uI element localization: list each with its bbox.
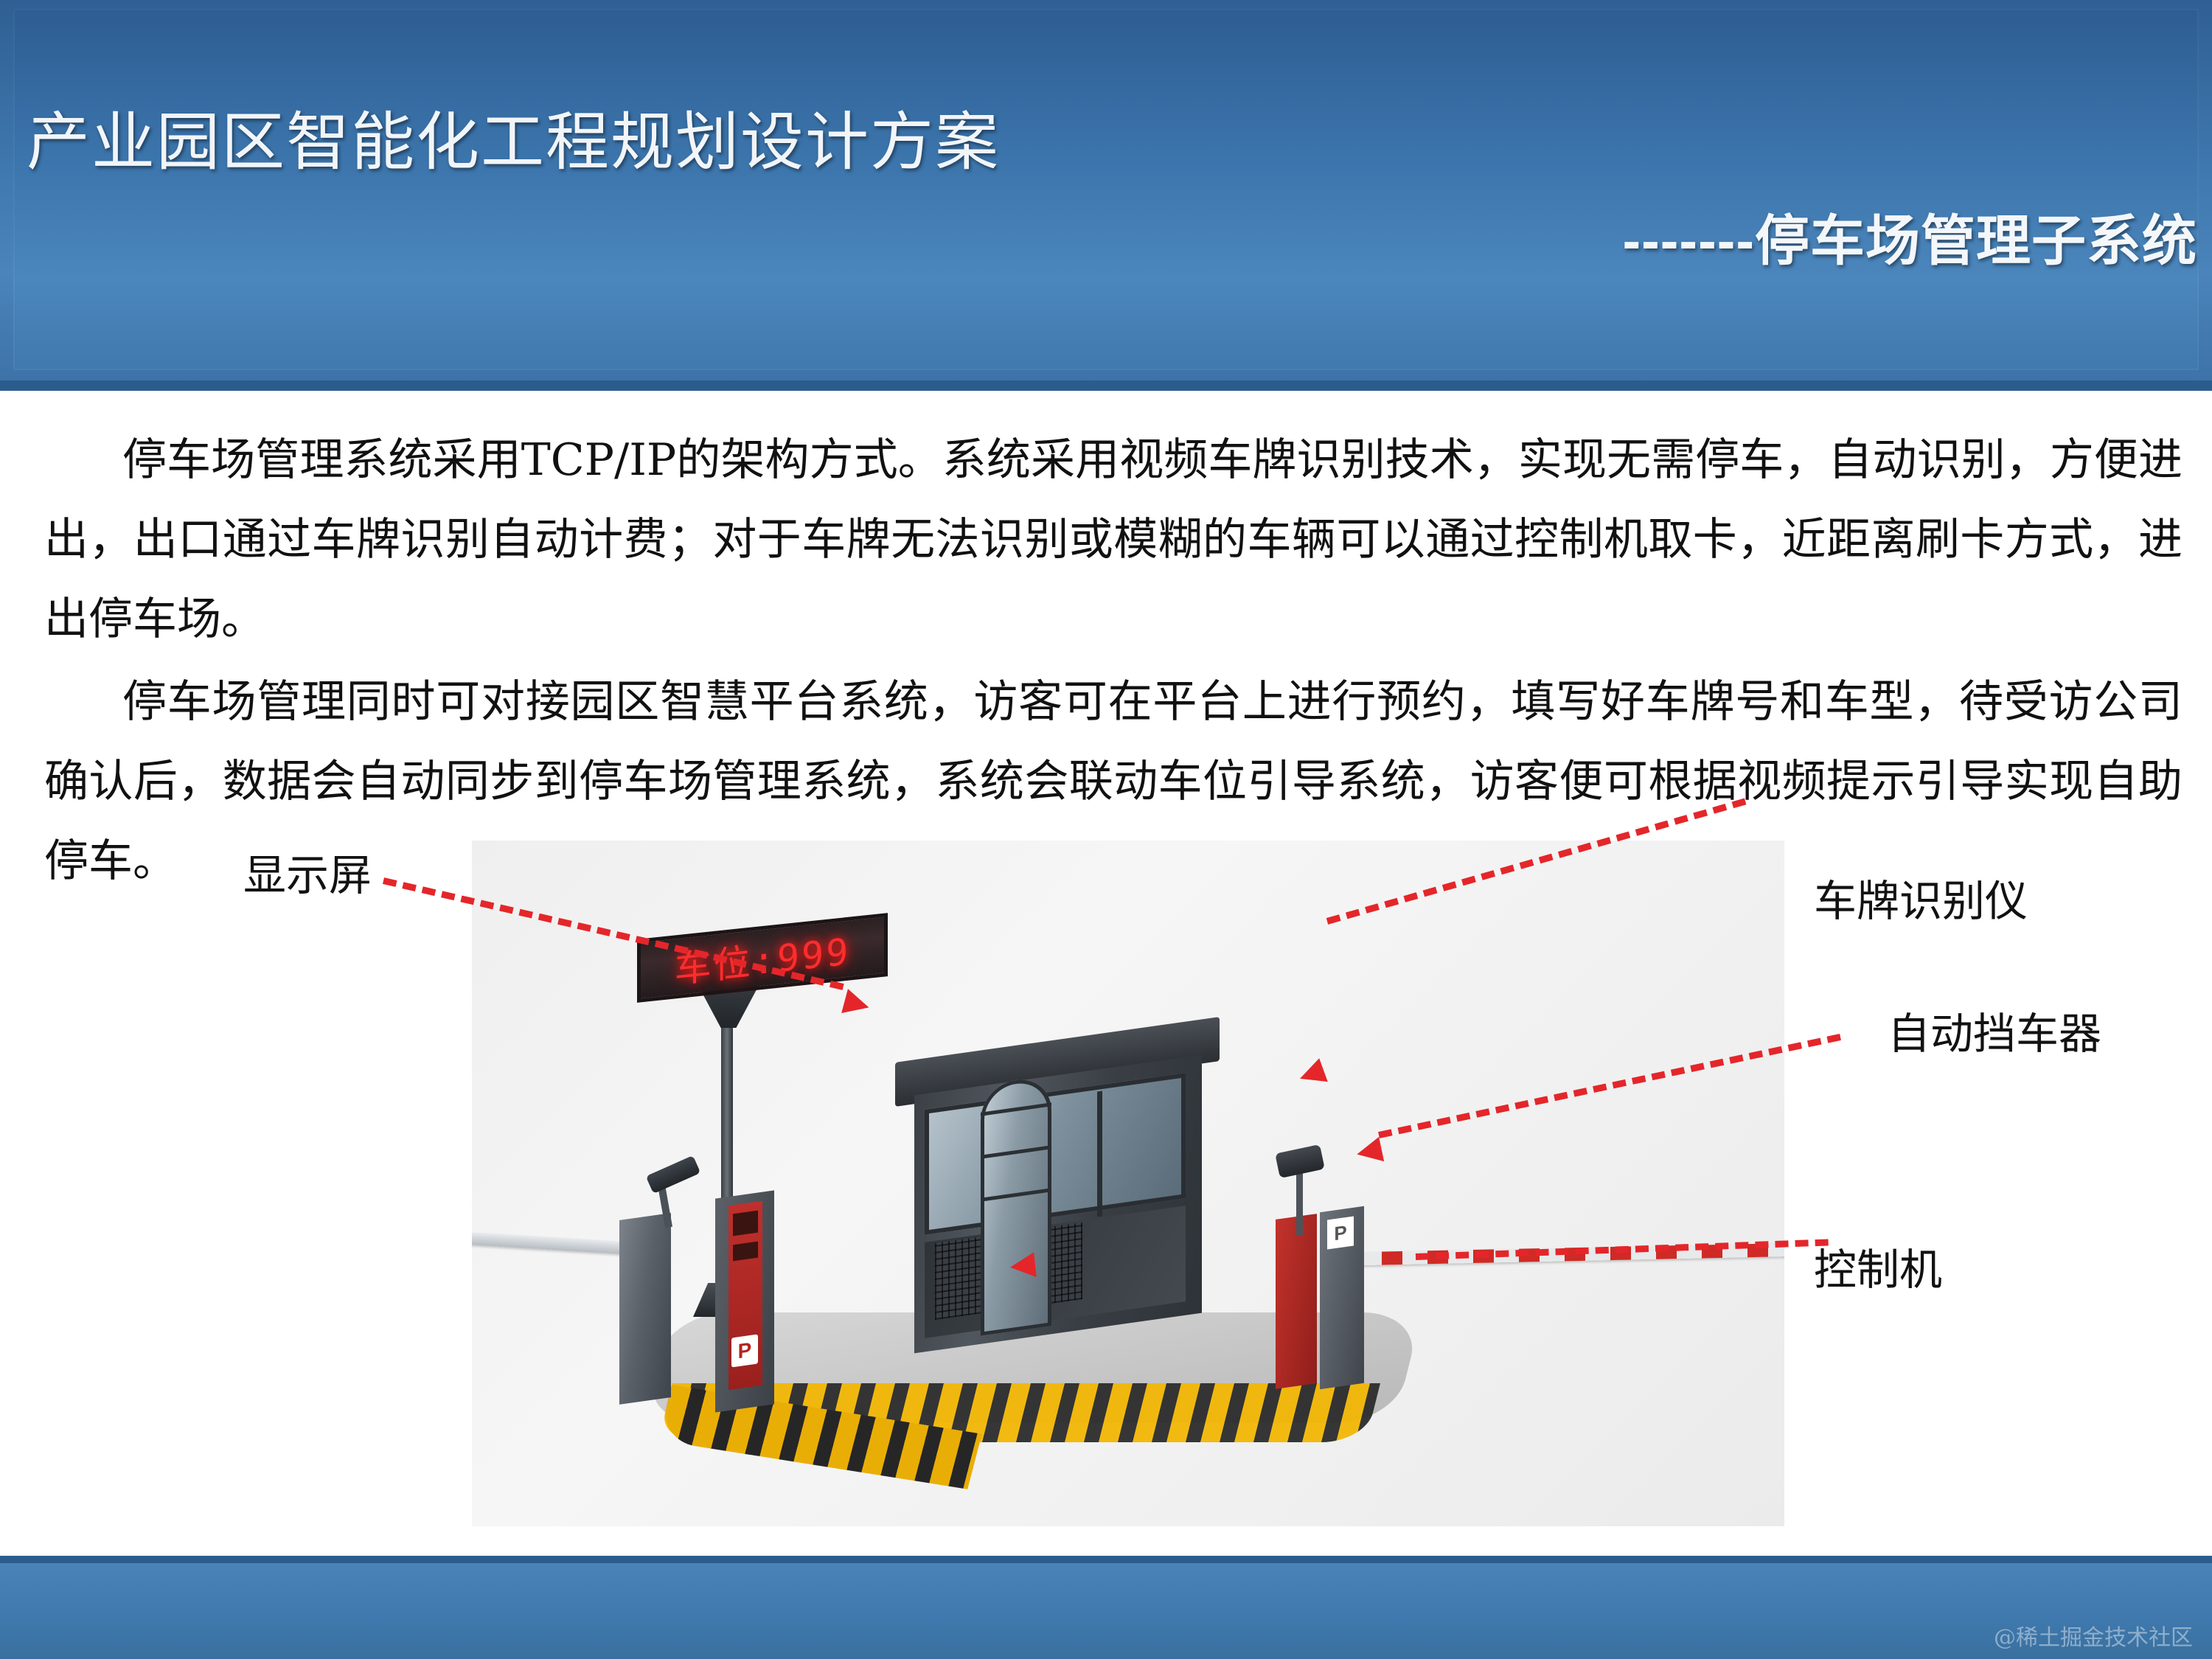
callout-label-gate: 自动挡车器 [1888, 999, 2101, 1061]
page-subtitle: -------停车场管理子系统 [1623, 214, 2198, 268]
slide-footer-band: @稀土掘金技术社区 [0, 1556, 2212, 1659]
left-barrier-housing [619, 1213, 671, 1405]
lpr-camera-pole [1296, 1169, 1303, 1235]
paragraph-1: 停车场管理系统采用TCP/IP的架构方式。系统采用视频车牌识别技术，实现无需停车… [44, 420, 2183, 659]
leader-arrow-controller [1009, 1252, 1036, 1279]
callout-label-display: 显示屏 [243, 841, 372, 902]
left-camera-icon [646, 1155, 701, 1194]
booth-window-mullion [1097, 1091, 1102, 1217]
left-barrier-arm [472, 1220, 641, 1255]
slide-body-text: 停车场管理系统采用TCP/IP的架构方式。系统采用视频车牌识别技术，实现无需停车… [44, 420, 2183, 904]
slide-header-inner [13, 9, 2199, 370]
page-title: 产业园区智能化工程规划设计方案 [27, 111, 1000, 174]
lpr-camera-icon [1275, 1144, 1325, 1178]
control-machine-p-badge: P [731, 1334, 758, 1367]
callout-label-lpr: 车牌识别仪 [1814, 866, 2028, 928]
leader-arrow-gate [1354, 1137, 1384, 1166]
lpr-post [1276, 1214, 1317, 1389]
guard-booth [914, 1040, 1202, 1357]
watermark-text: @稀土掘金技术社区 [1994, 1619, 2193, 1652]
callout-label-controller: 控制机 [1814, 1235, 1942, 1297]
lpr-p-badge: P [1327, 1216, 1354, 1249]
control-machine-screen-top [733, 1211, 758, 1237]
slide-header-band: 产业园区智能化工程规划设计方案 -------停车场管理子系统 [0, 0, 2212, 391]
